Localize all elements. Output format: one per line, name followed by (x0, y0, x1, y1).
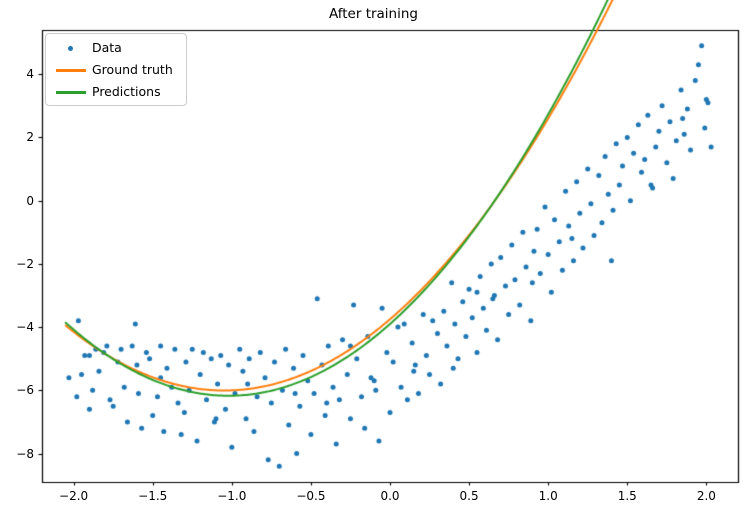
y-tick-label: −8 (6, 447, 34, 461)
ground-truth-line-icon (54, 59, 88, 81)
data-marker-icon (54, 37, 88, 59)
legend-entry-data: Data (54, 37, 182, 59)
figure-container: After training Data Ground truth Predict… (0, 0, 747, 528)
x-tick-label: −2.0 (59, 489, 88, 503)
predictions-line-icon (54, 81, 88, 103)
y-tick-label: 0 (6, 194, 34, 208)
x-tick-label: −1.5 (138, 489, 167, 503)
legend-label-data: Data (92, 39, 122, 57)
x-tick-label: 2.0 (697, 489, 716, 503)
x-tick-label: −1.0 (217, 489, 246, 503)
chart-title: After training (0, 6, 747, 22)
x-tick-label: 1.0 (539, 489, 558, 503)
legend-entry-ground-truth: Ground truth (54, 59, 182, 81)
y-tick-label: 2 (6, 130, 34, 144)
legend: Data Ground truth Predictions (45, 33, 187, 106)
y-tick-label: −6 (6, 383, 34, 397)
y-tick-label: 4 (6, 67, 34, 81)
legend-label-predictions: Predictions (92, 83, 161, 101)
x-tick-label: 0.5 (460, 489, 479, 503)
x-tick-label: −0.5 (296, 489, 325, 503)
legend-entry-predictions: Predictions (54, 81, 182, 103)
x-tick-label: 0.0 (380, 489, 399, 503)
y-tick-label: −4 (6, 320, 34, 334)
y-tick-label: −2 (6, 257, 34, 271)
legend-label-ground-truth: Ground truth (92, 61, 173, 79)
x-tick-label: 1.5 (618, 489, 637, 503)
